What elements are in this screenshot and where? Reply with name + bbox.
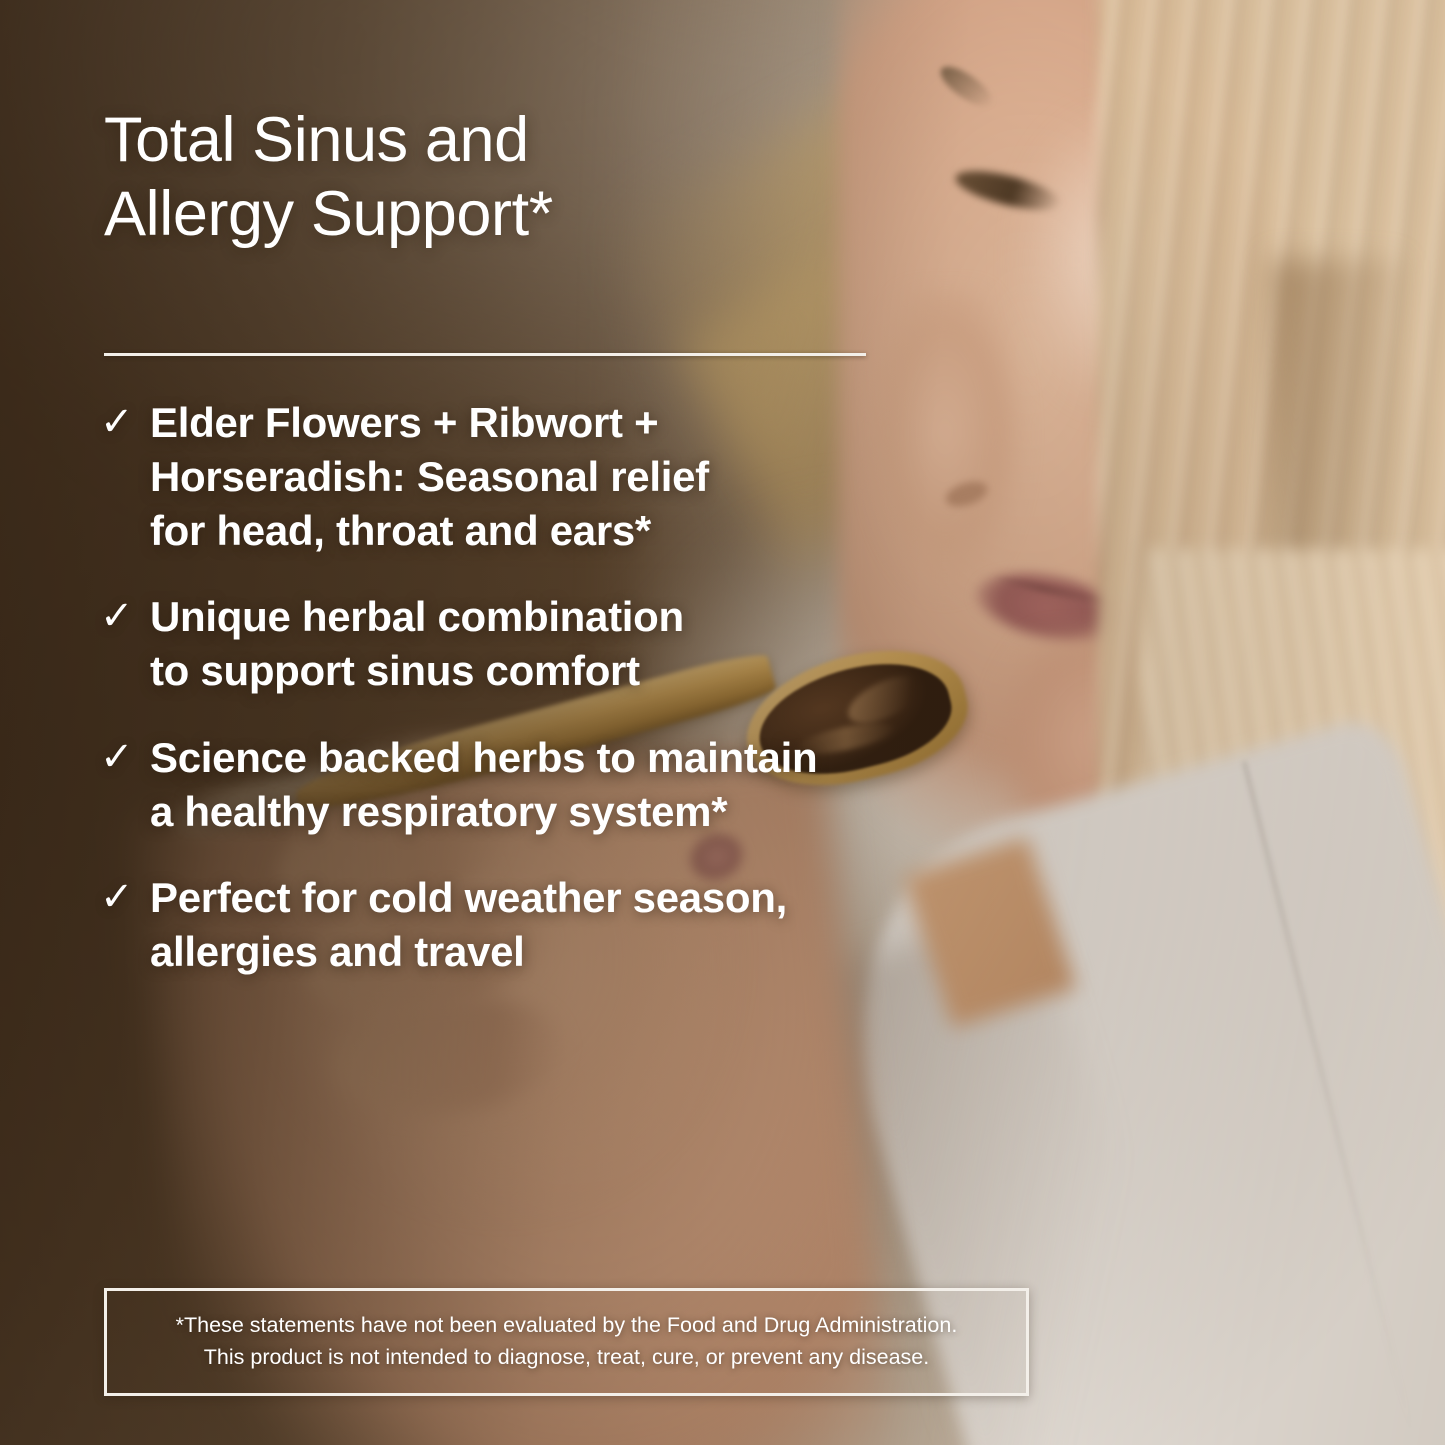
check-icon: ✓ (100, 871, 150, 924)
disclaimer-line-1: *These statements have not been evaluate… (176, 1310, 958, 1342)
check-icon: ✓ (100, 590, 150, 643)
list-item: ✓ Unique herbal combination to support s… (100, 590, 1050, 698)
benefit-text: Unique herbal combination to support sin… (150, 590, 1050, 698)
fda-disclaimer-box: *These statements have not been evaluate… (104, 1288, 1029, 1396)
benefit-text: Science backed herbs to maintain a healt… (150, 731, 1050, 839)
title-divider-rule (104, 353, 866, 356)
check-icon: ✓ (100, 731, 150, 784)
benefit-text: Perfect for cold weather season, allergi… (150, 871, 1050, 979)
marketing-overlay: Total Sinus and Allergy Support* ✓ Elder… (0, 0, 1445, 1445)
list-item: ✓ Perfect for cold weather season, aller… (100, 871, 1050, 979)
list-item: ✓ Elder Flowers + Ribwort + Horseradish:… (100, 396, 1050, 557)
benefit-list: ✓ Elder Flowers + Ribwort + Horseradish:… (100, 396, 1050, 1012)
disclaimer-line-2: This product is not intended to diagnose… (204, 1342, 929, 1374)
benefit-text: Elder Flowers + Ribwort + Horseradish: S… (150, 396, 1050, 557)
check-icon: ✓ (100, 396, 150, 449)
page-title: Total Sinus and Allergy Support* (104, 104, 934, 251)
list-item: ✓ Science backed herbs to maintain a hea… (100, 731, 1050, 839)
